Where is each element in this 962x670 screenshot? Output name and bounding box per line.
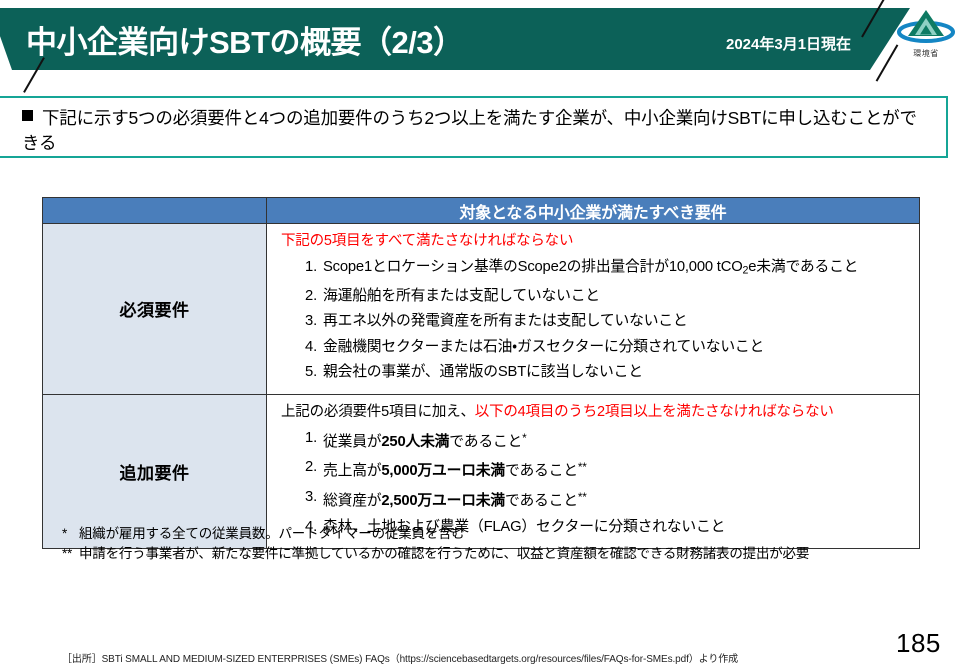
list-item: 金融機関セクターまたは石油・ガスセクターに分類されていないこと bbox=[323, 335, 913, 361]
row-label-cell-mandatory: 必須要件 bbox=[43, 224, 267, 394]
list-item: 売上高が5,000万ユーロ未満であること** bbox=[323, 455, 913, 485]
row-intro-additional: 上記の必須要件5項目に加え、以下の4項目のうち2項目以上を満たさなければならない bbox=[281, 402, 913, 423]
page-title: 中小企業向けSBTの概要（2/3） bbox=[26, 17, 464, 62]
footnotes: *組織が雇用する全ての従業員数。パートタイマーの従業員を含む **申請を行う事業… bbox=[62, 524, 942, 564]
footnote-double-asterisk: **申請を行う事業者が、新たな要件に準拠しているかの確認を行うために、収益と資産… bbox=[62, 544, 942, 564]
footnote-mark: * bbox=[62, 524, 79, 544]
footnote-text: 組織が雇用する全ての従業員数。パートタイマーの従業員を含む bbox=[79, 526, 465, 541]
header-date: 2024年3月1日現在 bbox=[726, 33, 851, 54]
page-number: 185 bbox=[896, 628, 941, 659]
list-item: 親会社の事業が、通常版のSBTに該当しないこと bbox=[323, 360, 913, 386]
logo-caption: 環境省 bbox=[897, 48, 955, 59]
row-label-mandatory: 必須要件 bbox=[120, 296, 190, 321]
list-item: 海運船舶を所有または支配していないこと bbox=[323, 284, 913, 310]
list-item: 再エネ以外の発電資産を所有または支配していないこと bbox=[323, 309, 913, 335]
lead-statement-inner: 下記に示す5つの必須要件と4つの追加要件のうち2つ以上を満たす企業が、中小企業向… bbox=[22, 106, 930, 156]
list-item: Scope1とロケーション基準のScope2の排出量合計が10,000 tCO2… bbox=[323, 255, 913, 284]
square-bullet-icon bbox=[22, 110, 33, 121]
footnote-text: 申請を行う事業者が、新たな要件に準拠しているかの確認を行うために、収益と資産額を… bbox=[79, 546, 809, 561]
row-label-additional: 追加要件 bbox=[120, 459, 190, 484]
footnote-mark: ** bbox=[62, 544, 79, 564]
source-citation: ［出所］SBTi SMALL AND MEDIUM-SIZED ENTERPRI… bbox=[62, 650, 738, 665]
list-item: 総資産が2,500万ユーロ未満であること** bbox=[323, 485, 913, 515]
requirements-table: 対象となる中小企業が満たすべき要件 必須要件 下記の5項目をすべて満たさなければ… bbox=[42, 197, 920, 549]
row-intro-red-additional: 以下の4項目のうち2項目以上を満たさなければならない bbox=[475, 404, 834, 420]
table-header-left-cell bbox=[43, 198, 267, 223]
row-intro-red-mandatory: 下記の5項目をすべて満たさなければならない bbox=[281, 233, 573, 249]
footnote-single-asterisk: *組織が雇用する全ての従業員数。パートタイマーの従業員を含む bbox=[62, 524, 942, 544]
lead-statement-text: 下記に示す5つの必須要件と4つの追加要件のうち2つ以上を満たす企業が、中小企業向… bbox=[22, 108, 917, 153]
lead-statement-box: 下記に示す5つの必須要件と4つの追加要件のうち2つ以上を満たす企業が、中小企業向… bbox=[0, 96, 948, 158]
mandatory-requirements-list: Scope1とロケーション基準のScope2の排出量合計が10,000 tCO2… bbox=[281, 255, 913, 386]
table-header-right-cell: 対象となる中小企業が満たすべき要件 bbox=[267, 198, 919, 223]
table-row: 必須要件 下記の5項目をすべて満たさなければならない Scope1とロケーション… bbox=[43, 224, 919, 395]
row-body-mandatory: 下記の5項目をすべて満たさなければならない Scope1とロケーション基準のSc… bbox=[267, 224, 919, 394]
slide-header: 中小企業向けSBTの概要（2/3） 2024年3月1日現在 環境省 bbox=[0, 0, 962, 86]
table-header-right-label: 対象となる中小企業が満たすべき要件 bbox=[459, 199, 726, 223]
table-header-row: 対象となる中小企業が満たすべき要件 bbox=[43, 198, 919, 224]
list-item: 従業員が250人未満であること* bbox=[323, 426, 913, 456]
row-intro-black-additional: 上記の必須要件5項目に加え、 bbox=[281, 404, 475, 420]
row-content-cell-mandatory: 下記の5項目をすべて満たさなければならない Scope1とロケーション基準のSc… bbox=[267, 224, 919, 394]
row-intro-mandatory: 下記の5項目をすべて満たさなければならない bbox=[281, 231, 913, 252]
